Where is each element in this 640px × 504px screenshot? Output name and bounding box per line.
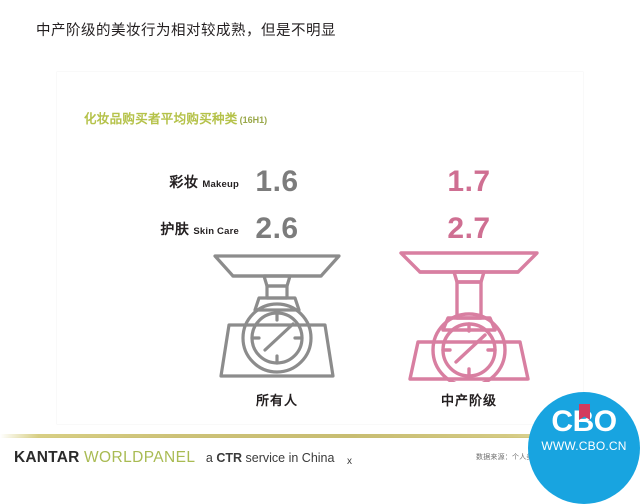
cbo-watermark-logo: CBO WWW.CBO.CN bbox=[528, 392, 640, 504]
chart-subtitle-text: 化妆品购买者平均购买种类 bbox=[84, 112, 238, 126]
value-skincare-middle-class: 2.7 bbox=[409, 207, 529, 251]
scale-group-middle-class bbox=[384, 250, 554, 382]
tagline-pre: a bbox=[206, 451, 216, 465]
value-skincare-all: 2.6 bbox=[217, 207, 337, 251]
footer-x-mark: x bbox=[347, 456, 352, 467]
tagline-ctr: CTR bbox=[216, 451, 242, 465]
tagline-post: service in China bbox=[242, 451, 334, 465]
metrics-table: 彩妆Makeup 1.6 1.7 护肤Skin Care 2.6 2.7 bbox=[57, 164, 583, 258]
table-row: 彩妆Makeup 1.6 1.7 bbox=[57, 164, 583, 211]
value-makeup-middle-class: 1.7 bbox=[409, 160, 529, 204]
row-label-cn: 彩妆 bbox=[169, 174, 198, 190]
scale-group-all bbox=[192, 250, 362, 382]
row-label-makeup: 彩妆Makeup bbox=[57, 172, 239, 192]
slide-canvas: 中产阶级的美妆行为相对较成熟，但是不明显 化妆品购买者平均购买种类(16H1) … bbox=[0, 0, 640, 480]
value-makeup-all: 1.6 bbox=[217, 160, 337, 204]
caption-all-people: 所有人 bbox=[192, 390, 362, 409]
kitchen-scale-icon bbox=[396, 250, 542, 382]
kantar-worldpanel-logo: KANTAR WORLDPANEL a CTR service in China bbox=[14, 449, 334, 467]
kitchen-scale-icon bbox=[209, 250, 345, 382]
content-card: 化妆品购买者平均购买种类(16H1) 彩妆Makeup 1.6 1.7 护肤Sk… bbox=[57, 72, 583, 424]
brand-worldpanel: WORLDPANEL bbox=[84, 449, 195, 466]
row-label-cn: 护肤 bbox=[160, 221, 189, 237]
page-title: 中产阶级的美妆行为相对较成熟，但是不明显 bbox=[36, 19, 336, 40]
cbo-url: WWW.CBO.CN bbox=[528, 439, 640, 453]
brand-tagline: a CTR service in China bbox=[206, 451, 335, 465]
scale-illustrations bbox=[57, 250, 583, 382]
group-captions: 所有人 中产阶级 bbox=[57, 390, 583, 416]
brand-kantar: KANTAR bbox=[14, 449, 80, 466]
chart-subtitle: 化妆品购买者平均购买种类(16H1) bbox=[84, 108, 267, 127]
row-label-skincare: 护肤Skin Care bbox=[57, 219, 239, 239]
chart-subtitle-period: (16H1) bbox=[240, 115, 268, 125]
